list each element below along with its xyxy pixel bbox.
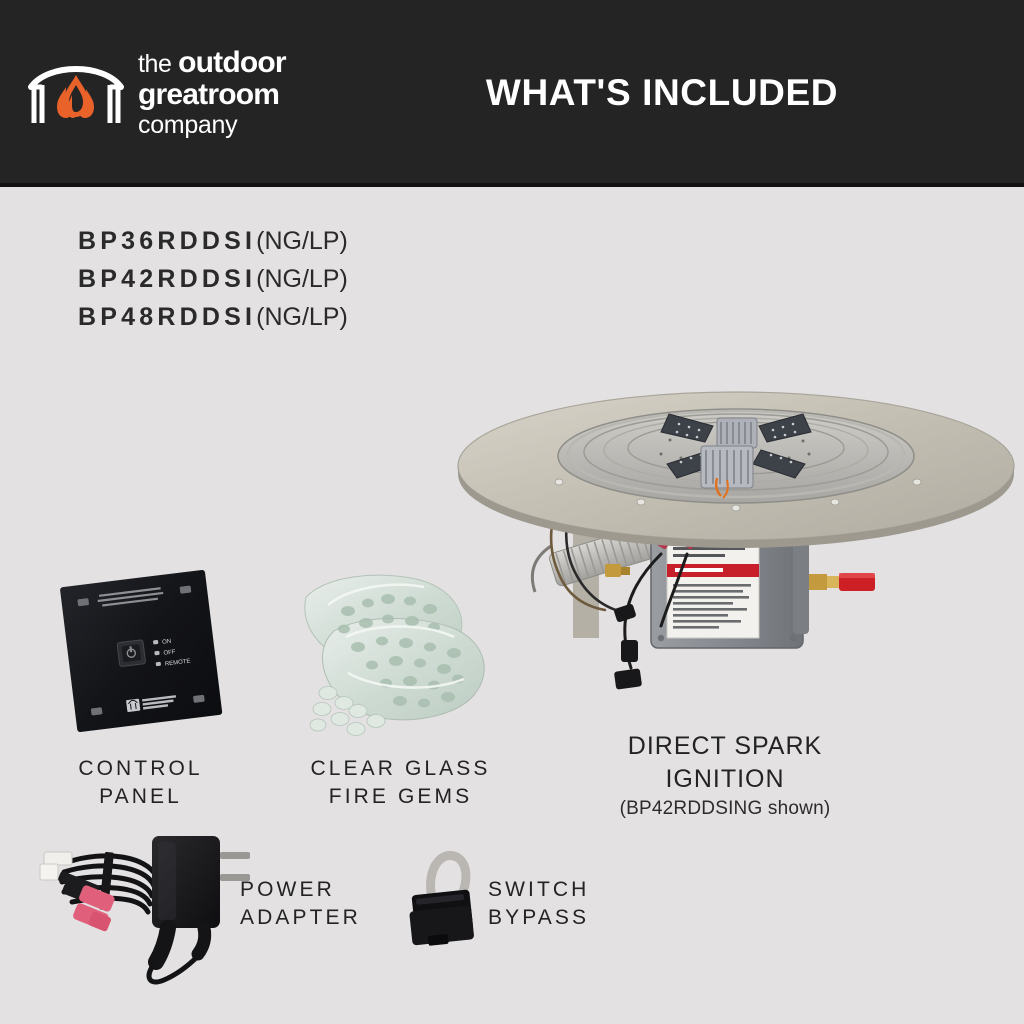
brand-logo: the outdoor greatroom company — [28, 48, 286, 138]
model-code: BP36RDDSI — [78, 227, 256, 255]
logo-line-3: company — [138, 113, 286, 138]
fire-gems-label-line2: FIRE GEMS — [329, 785, 472, 808]
model-code: BP48RDDSI — [78, 303, 256, 331]
model-suffix: (NG/LP) — [256, 227, 348, 255]
direct-spark-ignition-photo — [455, 378, 1015, 708]
brass-fitting-right — [809, 573, 875, 591]
power-adapter-photo — [28, 828, 260, 990]
ignition-label-line2: IGNITION — [665, 765, 784, 793]
switch-bypass-label: SWITCH BYPASS — [488, 876, 658, 932]
power-adapter-label-line1: POWER — [240, 878, 335, 901]
control-panel-label-line1: CONTROL — [78, 757, 202, 780]
svg-text:ON: ON — [162, 639, 172, 646]
header-divider — [0, 183, 1024, 187]
switch-bypass-label-line1: SWITCH — [488, 878, 589, 901]
fire-gems-label: CLEAR GLASS FIRE GEMS — [278, 755, 523, 811]
control-panel-label: CONTROL PANEL — [38, 755, 243, 811]
clear-glass-fire-gems-photo — [288, 553, 513, 748]
power-adapter-label: POWER ADAPTER — [240, 876, 400, 932]
page-header: the outdoor greatroom company — [0, 0, 1024, 185]
model-code: BP42RDDSI — [78, 265, 256, 293]
switch-bypass-label-line2: BYPASS — [488, 906, 589, 929]
power-adapter-label-line2: ADAPTER — [240, 906, 361, 929]
model-number-list: BP36RDDSI(NG/LP) BP42RDDSI(NG/LP) BP48RD… — [78, 222, 348, 336]
model-row: BP42RDDSI(NG/LP) — [78, 260, 348, 298]
switch-bypass-photo — [396, 836, 494, 948]
model-suffix: (NG/LP) — [256, 303, 348, 331]
model-suffix: (NG/LP) — [256, 265, 348, 293]
model-row: BP48RDDSI(NG/LP) — [78, 298, 348, 336]
ignition-caption: (BP42RDDSING shown) — [575, 798, 875, 820]
fire-gems-label-line1: CLEAR GLASS — [311, 757, 491, 780]
logo-line-1: the outdoor — [138, 48, 286, 78]
pavilion-flame-logo-icon — [28, 55, 124, 131]
ignition-label-line1: DIRECT SPARK — [628, 732, 822, 760]
logo-line-2: greatroom — [138, 80, 286, 110]
control-panel-photo: ON OFF REMOTE — [48, 568, 234, 733]
control-panel-label-line2: PANEL — [99, 785, 182, 808]
ignition-label: DIRECT SPARK IGNITION — [575, 730, 875, 796]
model-row: BP36RDDSI(NG/LP) — [78, 222, 348, 260]
